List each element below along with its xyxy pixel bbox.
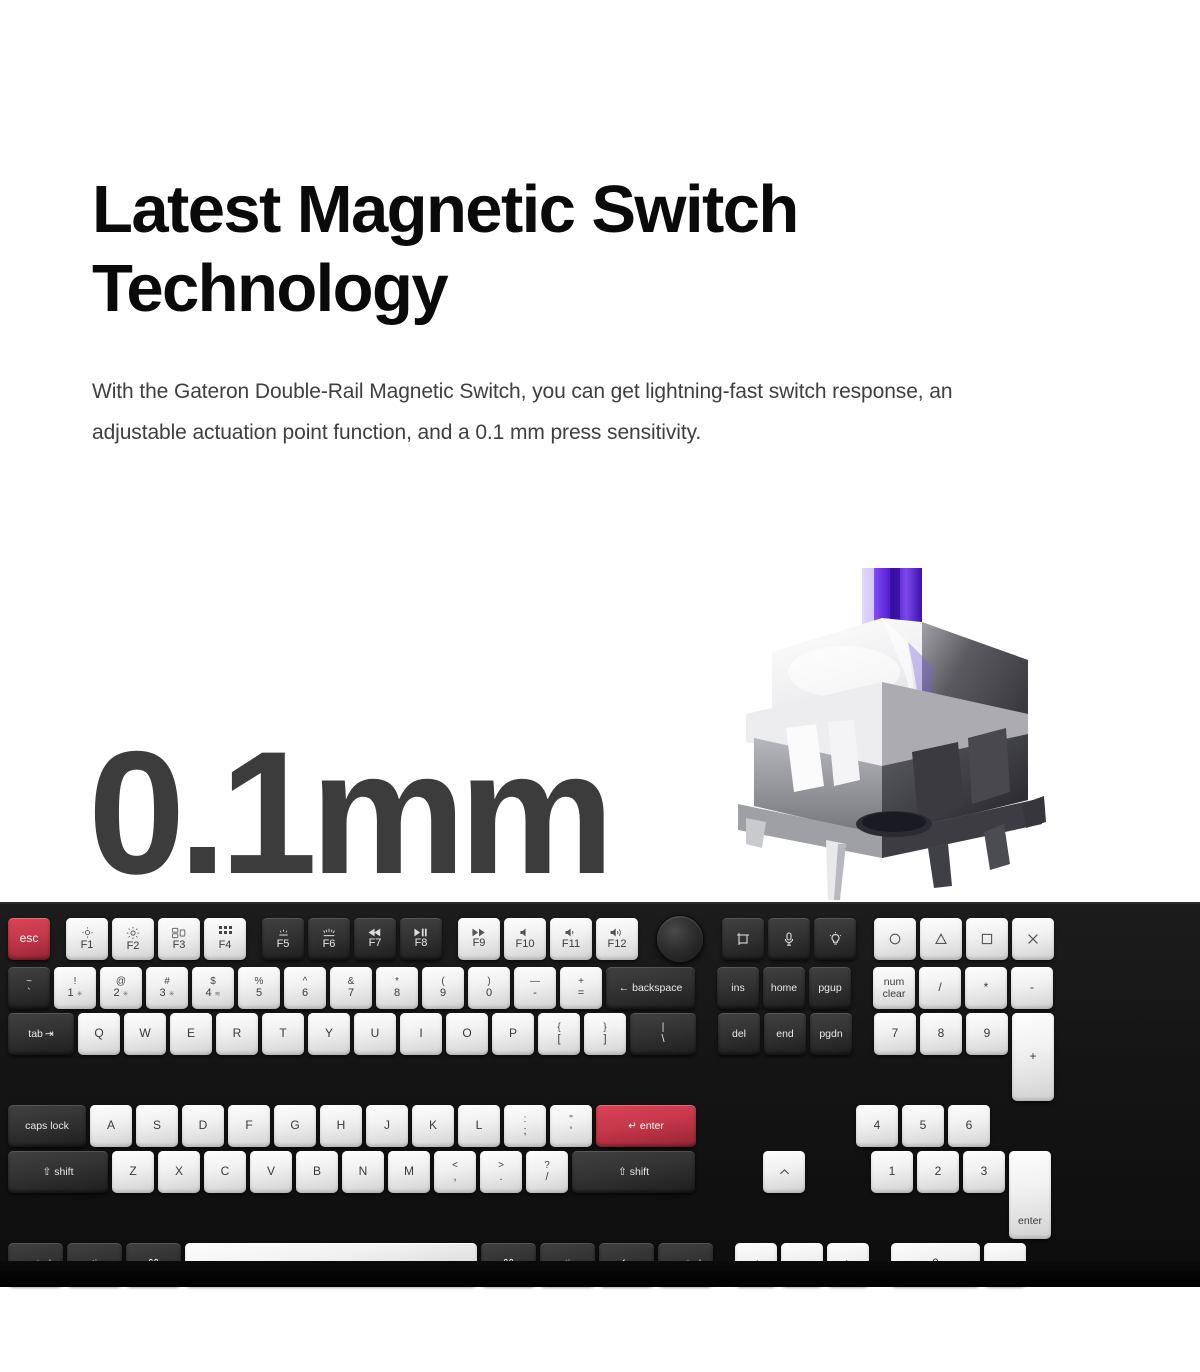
hero-description: With the Gateron Double-Rail Magnetic Sw… (92, 372, 1022, 454)
numpad-row-1: num clear / * - (873, 967, 1053, 1009)
bluetooth-icon: ✳ (169, 991, 175, 998)
keyboard-function-row: esc F1 F2 F3 (8, 918, 1192, 963)
key-numpad-6[interactable]: 6 (948, 1105, 990, 1147)
key-square[interactable] (966, 918, 1008, 960)
key-equal[interactable]: + = (560, 967, 602, 1009)
backlight-up-icon (321, 927, 337, 938)
key-numpad-divide[interactable]: / (919, 967, 961, 1009)
key-x[interactable]: X (158, 1151, 200, 1193)
macro-group (722, 918, 856, 960)
key-numpad-5[interactable]: 5 (902, 1105, 944, 1147)
key-numpad-enter[interactable]: enter (1009, 1151, 1051, 1239)
key-f9[interactable]: F9 (458, 918, 500, 960)
key-a[interactable]: A (90, 1105, 132, 1147)
key-3[interactable]: # 3✳ (146, 967, 188, 1009)
key-numpad-plus[interactable]: + (1012, 1013, 1054, 1101)
keyboard-number-row: ~ ` ! 1✳ @ 2✳ # 3✳ (8, 967, 1192, 1009)
key-numpad-8[interactable]: 8 (920, 1013, 962, 1055)
key-capslock[interactable]: caps lock (8, 1105, 86, 1147)
key-numpad-4[interactable]: 4 (856, 1105, 898, 1147)
key-6[interactable]: ^ 6 (284, 967, 326, 1009)
key-microphone[interactable] (768, 918, 810, 960)
key-backspace[interactable]: ← backspace (606, 967, 695, 1009)
key-p[interactable]: P (492, 1013, 534, 1055)
key-tab[interactable]: tab⇥ (8, 1013, 74, 1055)
key-v[interactable]: V (250, 1151, 292, 1193)
key-f5[interactable]: F5 (262, 918, 304, 960)
nav-group-upper: ins home pgup (717, 967, 851, 1009)
key-f12[interactable]: F12 (596, 918, 638, 960)
key-f1[interactable]: F1 (66, 918, 108, 960)
numpad-row-2: 7 8 9 + (874, 1013, 1054, 1101)
microphone-icon (783, 932, 795, 947)
keyboard-home-row: caps lock A S D F G H J K L : ; " (8, 1105, 1192, 1147)
key-backtick[interactable]: ~ ` (8, 967, 50, 1009)
key-b[interactable]: B (296, 1151, 338, 1193)
square-icon (980, 932, 994, 946)
fn-group-1: F1 F2 F3 F4 (66, 918, 246, 960)
key-shift-left[interactable]: ⇧ shift (8, 1151, 108, 1193)
key-quote[interactable]: " ' (550, 1105, 592, 1147)
key-esc[interactable]: esc (8, 918, 50, 960)
sensitivity-stat: 0.1mm (88, 726, 607, 901)
shift-icon: ⇧ (43, 1167, 52, 1178)
key-f[interactable]: F (228, 1105, 270, 1147)
key-f8[interactable]: F8 (400, 918, 442, 960)
key-numpad-1[interactable]: 1 (871, 1151, 913, 1193)
qwerty-row-main: tab⇥ Q W E R T Y U I O P { [ (8, 1013, 696, 1055)
fn-group-3: F9 F10 F11 F12 (458, 918, 638, 960)
key-1[interactable]: ! 1✳ (54, 967, 96, 1009)
rewind-icon (368, 928, 382, 937)
brightness-down-icon (81, 926, 94, 939)
key-s[interactable]: S (136, 1105, 178, 1147)
tab-icon: ⇥ (45, 1029, 54, 1040)
key-m[interactable]: M (388, 1151, 430, 1193)
hero-section: Latest Magnetic Switch Technology With t… (92, 170, 1052, 454)
number-row-main: ~ ` ! 1✳ @ 2✳ # 3✳ (8, 967, 695, 1009)
key-numpad-3[interactable]: 3 (963, 1151, 1005, 1193)
mute-icon (519, 927, 531, 938)
bluetooth-icon: ✳ (123, 991, 129, 998)
key-5[interactable]: % 5 (238, 967, 280, 1009)
key-circle[interactable] (874, 918, 916, 960)
rotary-knob[interactable] (656, 915, 704, 963)
bluetooth-icon: ✳ (77, 991, 83, 998)
key-n[interactable]: N (342, 1151, 384, 1193)
key-triangle[interactable] (920, 918, 962, 960)
shift-row-main: ⇧ shift Z X C V B N M < , > . (8, 1151, 695, 1193)
key-home[interactable]: home (763, 967, 805, 1009)
key-backslash[interactable]: | \ (630, 1013, 696, 1055)
mission-control-icon (172, 927, 186, 939)
key-z[interactable]: Z (112, 1151, 154, 1193)
key-numpad-minus[interactable]: - (1011, 967, 1053, 1009)
fn-group-2: F5 F6 F7 F8 (262, 918, 442, 960)
nav-group-lower: del end pgdn (718, 1013, 852, 1055)
key-enter[interactable]: ↵ enter (596, 1105, 696, 1147)
keyboard-image: esc F1 F2 F3 (0, 902, 1200, 1287)
key-f11[interactable]: F11 (550, 918, 592, 960)
key-semicolon[interactable]: : ; (504, 1105, 546, 1147)
keyboard-qwerty-row: tab⇥ Q W E R T Y U I O P { [ (8, 1013, 1192, 1101)
lightbulb-icon (829, 932, 842, 947)
key-q[interactable]: Q (78, 1013, 120, 1055)
numpad-row-4: 1 2 3 enter (871, 1151, 1051, 1239)
key-u[interactable]: U (354, 1013, 396, 1055)
product-feature-page: Latest Magnetic Switch Technology With t… (0, 0, 1200, 1372)
shape-group (874, 918, 1054, 960)
chevron-up-icon (779, 1168, 790, 1176)
volume-down-icon (564, 927, 578, 938)
key-j[interactable]: J (366, 1105, 408, 1147)
magnetic-switch-image (676, 556, 1096, 926)
key-comma[interactable]: < , (434, 1151, 476, 1193)
key-lightbulb[interactable] (814, 918, 856, 960)
key-pagedown[interactable]: pgdn (810, 1013, 852, 1055)
numpad-row-3: 4 5 6 (856, 1105, 990, 1147)
volume-up-icon (609, 927, 625, 938)
enter-icon: ↵ (628, 1121, 637, 1132)
key-f3[interactable]: F3 (158, 918, 200, 960)
key-8[interactable]: * 8 (376, 967, 418, 1009)
key-f2[interactable]: F2 (112, 918, 154, 960)
key-numpad-2[interactable]: 2 (917, 1151, 959, 1193)
key-d[interactable]: D (182, 1105, 224, 1147)
key-w[interactable]: W (124, 1013, 166, 1055)
key-g[interactable]: G (274, 1105, 316, 1147)
key-bracket-left[interactable]: { [ (538, 1013, 580, 1055)
page-title: Latest Magnetic Switch Technology (92, 170, 1052, 328)
key-9[interactable]: ( 9 (422, 967, 464, 1009)
key-4[interactable]: $ 4≋ (192, 967, 234, 1009)
key-delete[interactable]: del (718, 1013, 760, 1055)
key-arrow-up[interactable] (763, 1151, 805, 1193)
key-f6[interactable]: F6 (308, 918, 350, 960)
play-pause-icon (414, 928, 428, 937)
circle-icon (888, 932, 902, 946)
key-y[interactable]: Y (308, 1013, 350, 1055)
key-minus[interactable]: — - (514, 967, 556, 1009)
key-numpad-multiply[interactable]: * (965, 967, 1007, 1009)
key-c[interactable]: C (204, 1151, 246, 1193)
keyboard-shift-row: ⇧ shift Z X C V B N M < , > . (8, 1151, 1192, 1239)
arrow-left-icon: ← (619, 983, 630, 994)
key-i[interactable]: I (400, 1013, 442, 1055)
key-0[interactable]: ) 0 (468, 967, 510, 1009)
key-period[interactable]: > . (480, 1151, 522, 1193)
key-f10[interactable]: F10 (504, 918, 546, 960)
keyboard-case-lip (0, 1261, 1200, 1287)
key-7[interactable]: & 7 (330, 967, 372, 1009)
key-numclear[interactable]: num clear (873, 967, 915, 1009)
backlight-down-icon (276, 927, 291, 938)
key-end[interactable]: end (764, 1013, 806, 1055)
key-h[interactable]: H (320, 1105, 362, 1147)
triangle-icon (934, 932, 948, 946)
shift-icon: ⇧ (618, 1167, 627, 1178)
key-r[interactable]: R (216, 1013, 258, 1055)
key-bracket-right[interactable]: } ] (584, 1013, 626, 1055)
launchpad-icon (219, 926, 232, 939)
key-screenshot[interactable] (722, 918, 764, 960)
key-pageup[interactable]: pgup (809, 967, 851, 1009)
wifi-icon: ≋ (215, 991, 221, 998)
screenshot-icon (736, 932, 750, 946)
key-slash[interactable]: ? / (526, 1151, 568, 1193)
key-f7[interactable]: F7 (354, 918, 396, 960)
key-o[interactable]: O (446, 1013, 488, 1055)
fast-forward-icon (472, 928, 486, 937)
key-f4[interactable]: F4 (204, 918, 246, 960)
key-e[interactable]: E (170, 1013, 212, 1055)
key-shift-right[interactable]: ⇧ shift (572, 1151, 695, 1193)
cross-icon (1026, 932, 1040, 946)
key-l[interactable]: L (458, 1105, 500, 1147)
key-2[interactable]: @ 2✳ (100, 967, 142, 1009)
key-k[interactable]: K (412, 1105, 454, 1147)
key-t[interactable]: T (262, 1013, 304, 1055)
key-cross[interactable] (1012, 918, 1054, 960)
home-row-main: caps lock A S D F G H J K L : ; " (8, 1105, 696, 1147)
key-numpad-7[interactable]: 7 (874, 1013, 916, 1055)
key-numpad-9[interactable]: 9 (966, 1013, 1008, 1055)
key-insert[interactable]: ins (717, 967, 759, 1009)
brightness-up-icon (126, 926, 140, 940)
